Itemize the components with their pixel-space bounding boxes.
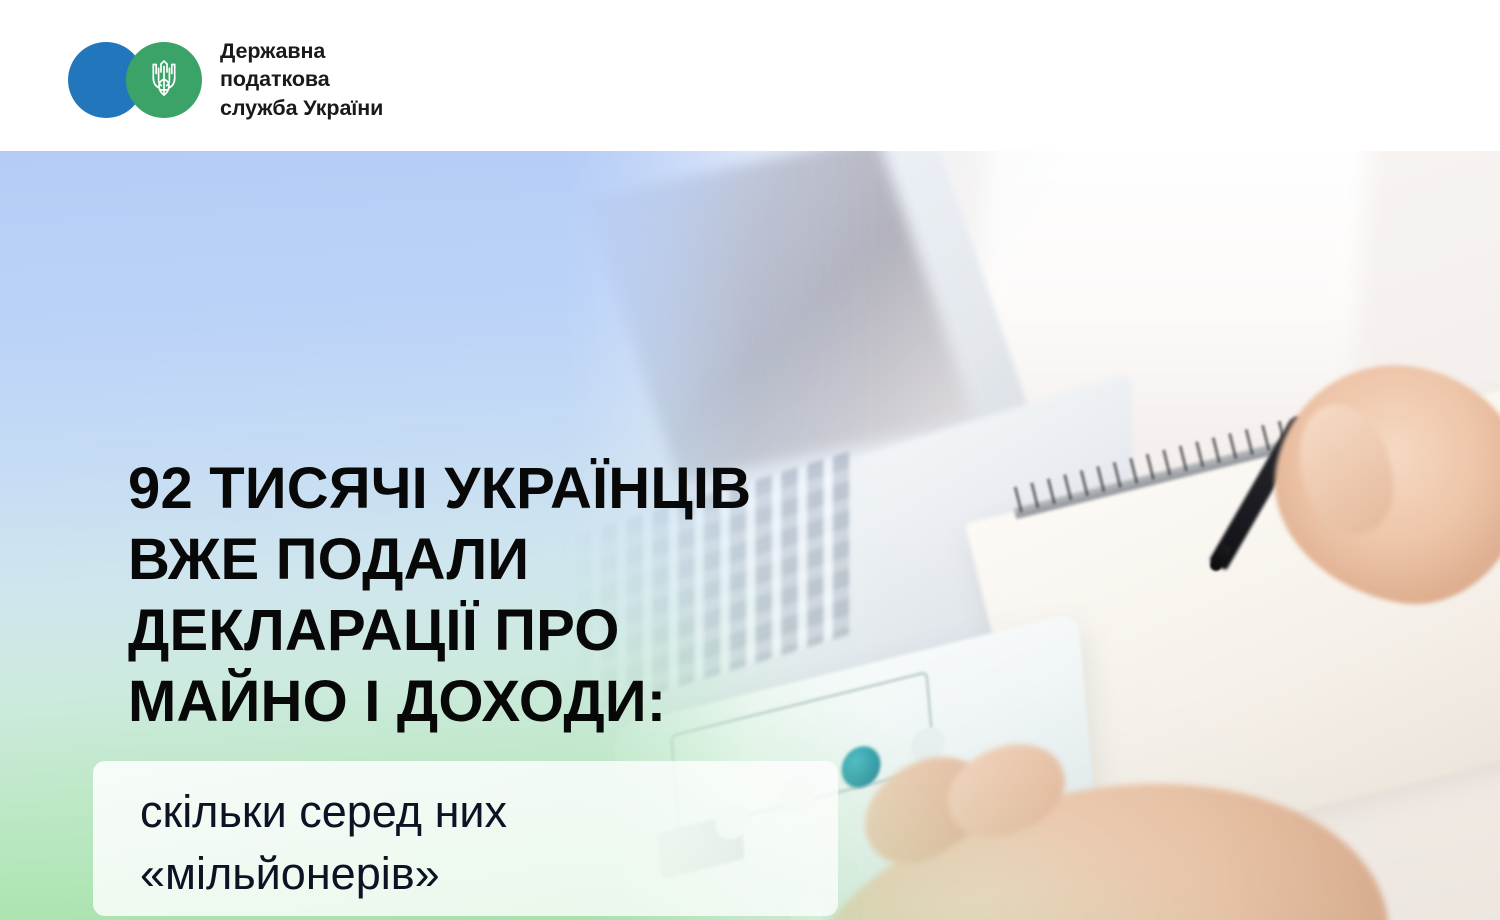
ukraine-trident-emblem-icon bbox=[147, 59, 181, 101]
green-circle-icon bbox=[126, 42, 202, 118]
header-bar: Державна податкова служба України bbox=[0, 0, 1500, 151]
poster-root: Державна податкова служба України bbox=[0, 0, 1500, 920]
logo-marks bbox=[68, 42, 202, 118]
organization-name: Державна податкова служба України bbox=[220, 37, 383, 122]
logo-block[interactable]: Державна податкова служба України bbox=[68, 37, 383, 122]
photo-window bbox=[970, 151, 1371, 421]
page-title: 92 тисячі українців вже подали деклараці… bbox=[128, 453, 918, 737]
page-subtitle: скільки серед них «мільйонерів» bbox=[140, 781, 840, 905]
poster-canvas: 92 тисячі українців вже подали деклараці… bbox=[0, 151, 1500, 920]
